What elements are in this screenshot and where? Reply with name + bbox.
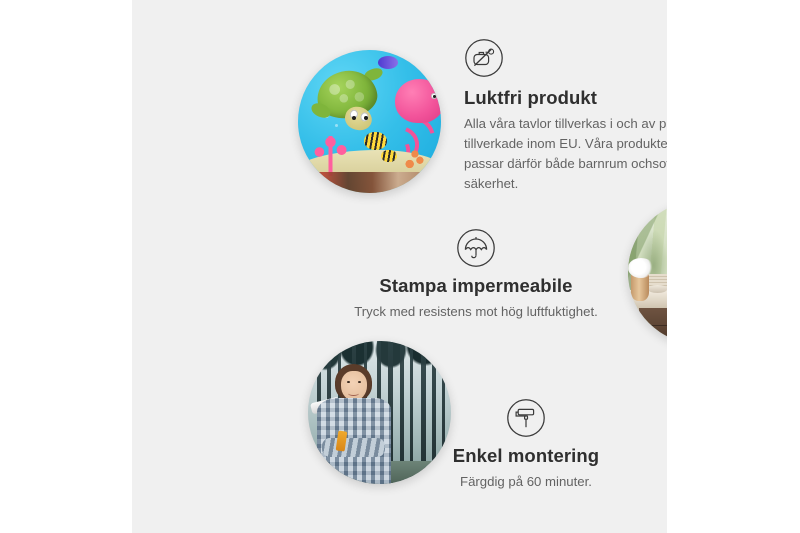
product-image-underwater[interactable] bbox=[298, 50, 441, 193]
flower-icon bbox=[628, 258, 654, 278]
yellow-fish-icon bbox=[364, 132, 387, 151]
blue-fish-icon bbox=[378, 56, 398, 69]
paint-roller-icon bbox=[506, 398, 546, 438]
feature-waterproof: Stampa impermeabile Tryck med resistens … bbox=[330, 228, 622, 322]
octopus-eye bbox=[431, 93, 437, 99]
crossed-arms bbox=[322, 438, 385, 457]
cabinet-seam bbox=[639, 325, 667, 326]
pink-coral bbox=[312, 136, 349, 176]
woman-eye bbox=[347, 381, 350, 383]
underwater-scene bbox=[298, 50, 441, 193]
bathroom-scene bbox=[628, 201, 667, 344]
soap-dish bbox=[648, 285, 667, 292]
feature-description: Färgdig på 60 minuter. bbox=[426, 472, 626, 492]
wood-cabinet bbox=[639, 308, 667, 344]
product-image-bathroom[interactable] bbox=[628, 201, 667, 344]
woman-face bbox=[341, 371, 367, 401]
no-odor-perfume-bottle-icon bbox=[464, 38, 504, 78]
feature-title: Enkel montering bbox=[426, 444, 626, 467]
octopus-head bbox=[395, 79, 441, 123]
orange-coral bbox=[401, 149, 430, 175]
feature-odorless: Luktfri produkt Alla våra tavlor tillver… bbox=[464, 38, 667, 194]
feature-title: Luktfri produkt bbox=[464, 86, 667, 109]
umbrella-icon bbox=[456, 228, 496, 268]
scene-bottom-strip bbox=[298, 172, 441, 193]
yellow-fish-icon bbox=[381, 150, 397, 161]
feature-description: Alla våra tavlor tillverkas i och av pro… bbox=[464, 114, 667, 194]
feature-description: Tryck med resistens mot hög luftfuktighe… bbox=[330, 302, 622, 322]
feature-title: Stampa impermeabile bbox=[330, 274, 622, 297]
feature-assembly: Enkel montering Färgdig på 60 minuter. bbox=[426, 398, 626, 492]
turtle-eye bbox=[364, 116, 368, 120]
content-panel: Luktfri produkt Alla våra tavlor tillver… bbox=[132, 0, 667, 533]
screenshot-root: Luktfri produkt Alla våra tavlor tillver… bbox=[0, 0, 800, 533]
